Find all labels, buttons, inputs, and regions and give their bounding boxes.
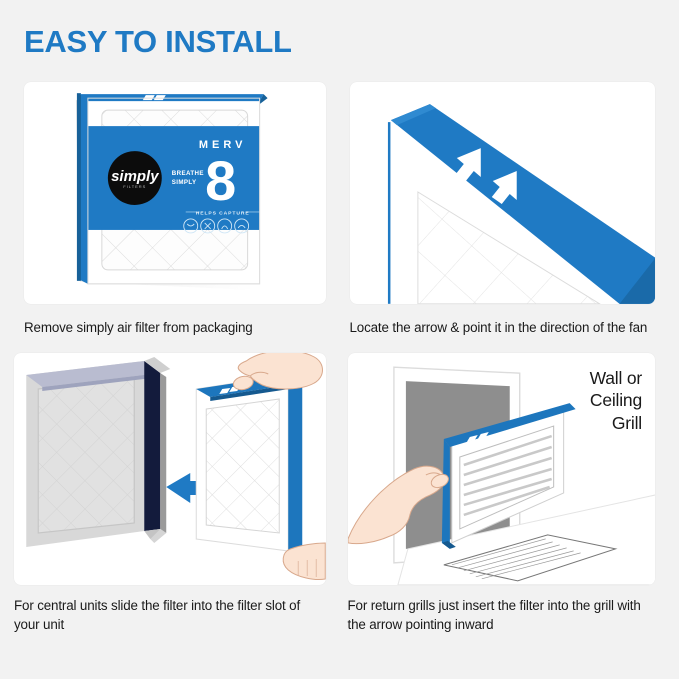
step-2-image-panel	[350, 82, 656, 304]
filter-edge-arrow-illustration	[350, 82, 656, 304]
svg-text:BREATHE: BREATHE	[172, 170, 204, 177]
step-3-image-panel	[14, 353, 326, 585]
steps-row-top: simply FILTERS BREATHE SIMPLY MERV 8 HEL…	[0, 78, 679, 337]
step-3-caption: For central units slide the filter into …	[14, 596, 326, 634]
step-1-image-panel: simply FILTERS BREATHE SIMPLY MERV 8 HEL…	[24, 82, 326, 304]
steps-grid: simply FILTERS BREATHE SIMPLY MERV 8 HEL…	[0, 78, 679, 634]
easy-to-install-infographic: EASY TO INSTALL	[0, 0, 679, 679]
svg-text:8: 8	[205, 149, 236, 212]
step-2-caption: Locate the arrow & point it in the direc…	[350, 318, 656, 337]
grill-label-line3: Grill	[590, 412, 642, 434]
step-4-image-panel: Wall or Ceiling Grill	[348, 353, 656, 585]
central-unit-slide-illustration	[14, 353, 326, 585]
svg-text:SIMPLY: SIMPLY	[172, 179, 197, 186]
step-1-caption: Remove simply air filter from packaging	[24, 318, 326, 337]
grill-label: Wall or Ceiling Grill	[590, 367, 642, 434]
step-cell-4: Wall or Ceiling Grill For return grills …	[340, 353, 679, 634]
page-title: EASY TO INSTALL	[24, 26, 292, 57]
svg-text:HELPS CAPTURE: HELPS CAPTURE	[196, 210, 250, 216]
step-4-caption: For return grills just insert the filter…	[348, 596, 660, 634]
step-cell-1: simply FILTERS BREATHE SIMPLY MERV 8 HEL…	[0, 78, 340, 337]
steps-row-bottom: For central units slide the filter into …	[0, 353, 679, 634]
svg-text:simply: simply	[111, 168, 159, 185]
grill-label-line1: Wall or	[590, 367, 642, 389]
grill-label-line2: Ceiling	[590, 389, 642, 411]
filter-package-illustration: simply FILTERS BREATHE SIMPLY MERV 8 HEL…	[24, 82, 326, 304]
step-cell-2: Locate the arrow & point it in the direc…	[340, 78, 679, 337]
svg-text:FILTERS: FILTERS	[123, 184, 146, 189]
step-cell-3: For central units slide the filter into …	[0, 353, 340, 634]
